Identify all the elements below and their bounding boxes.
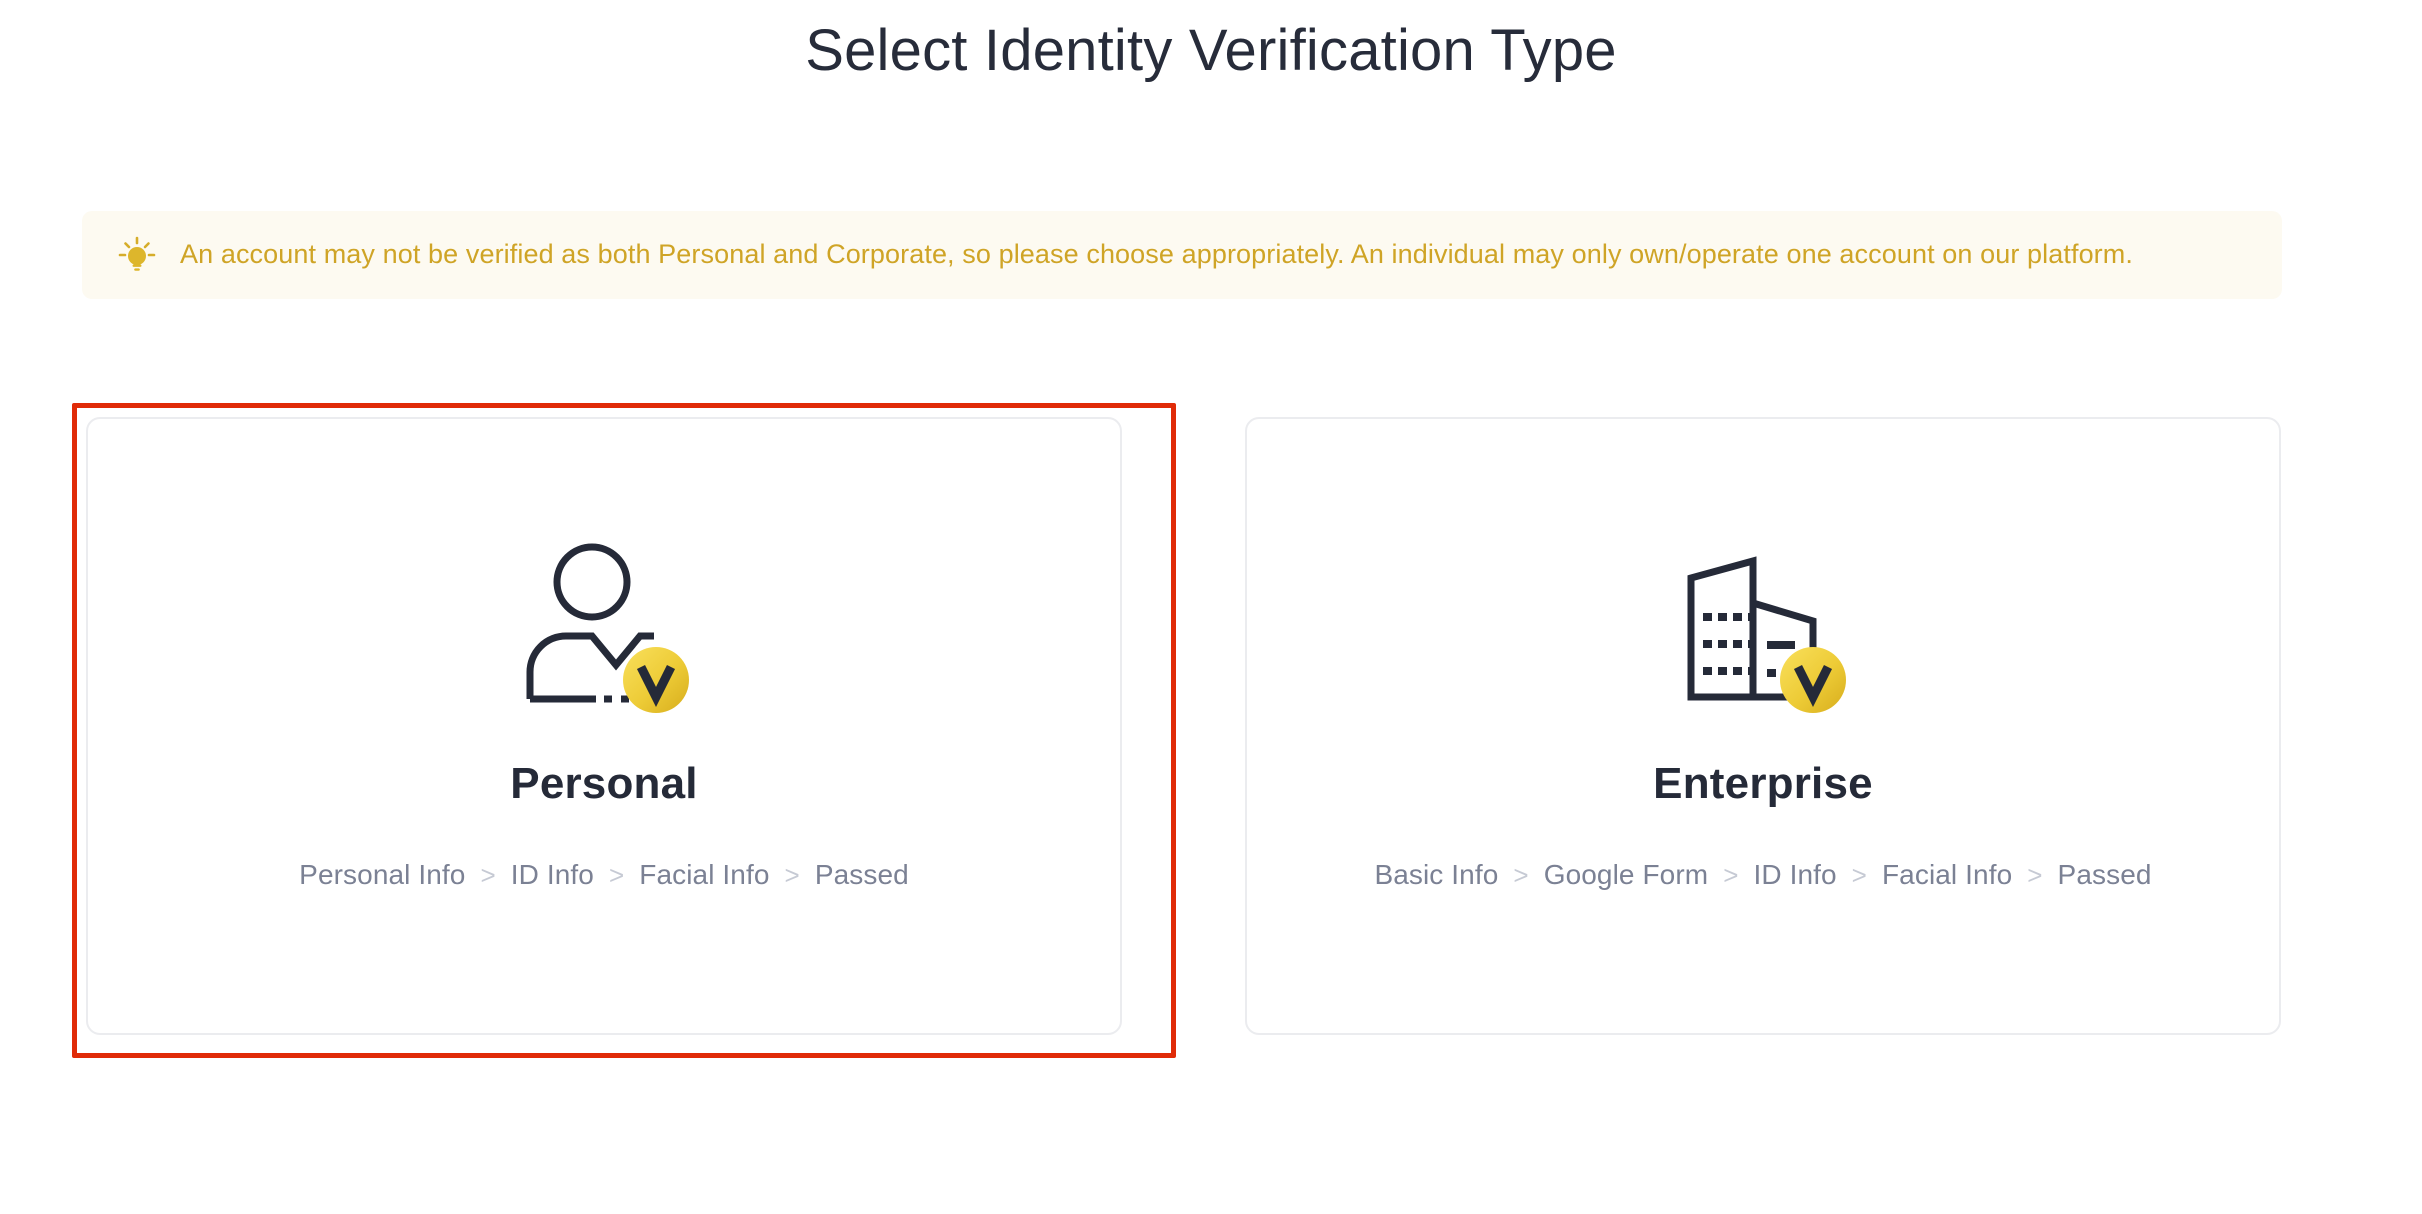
step-item: Facial Info [639, 859, 769, 891]
person-verified-icon [504, 537, 704, 715]
card-title-personal: Personal [510, 759, 697, 809]
step-item: Google Form [1544, 859, 1709, 891]
card-enterprise[interactable]: Enterprise Basic Info > Google Form > ID… [1245, 417, 2281, 1035]
step-item: Passed [2058, 859, 2152, 891]
step-separator-icon: > [480, 862, 495, 888]
step-separator-icon: > [1852, 862, 1867, 888]
step-item: Facial Info [1882, 859, 2012, 891]
step-separator-icon: > [1723, 862, 1738, 888]
step-item: ID Info [511, 859, 594, 891]
card-title-enterprise: Enterprise [1653, 759, 1873, 809]
step-separator-icon: > [609, 862, 624, 888]
step-item: Passed [815, 859, 909, 891]
step-separator-icon: > [1513, 862, 1528, 888]
card-steps-enterprise: Basic Info > Google Form > ID Info > Fac… [1374, 859, 2151, 891]
building-verified-icon [1663, 537, 1863, 715]
step-item: Basic Info [1374, 859, 1498, 891]
step-separator-icon: > [2027, 862, 2042, 888]
step-item: Personal Info [299, 859, 465, 891]
verification-type-cards: Personal Personal Info > ID Info > Facia… [0, 0, 2422, 1214]
step-item: ID Info [1753, 859, 1836, 891]
card-steps-personal: Personal Info > ID Info > Facial Info > … [299, 859, 909, 891]
step-separator-icon: > [785, 862, 800, 888]
card-personal[interactable]: Personal Personal Info > ID Info > Facia… [86, 417, 1122, 1035]
identity-verification-page: Select Identity Verification Type An acc… [0, 0, 2422, 1214]
